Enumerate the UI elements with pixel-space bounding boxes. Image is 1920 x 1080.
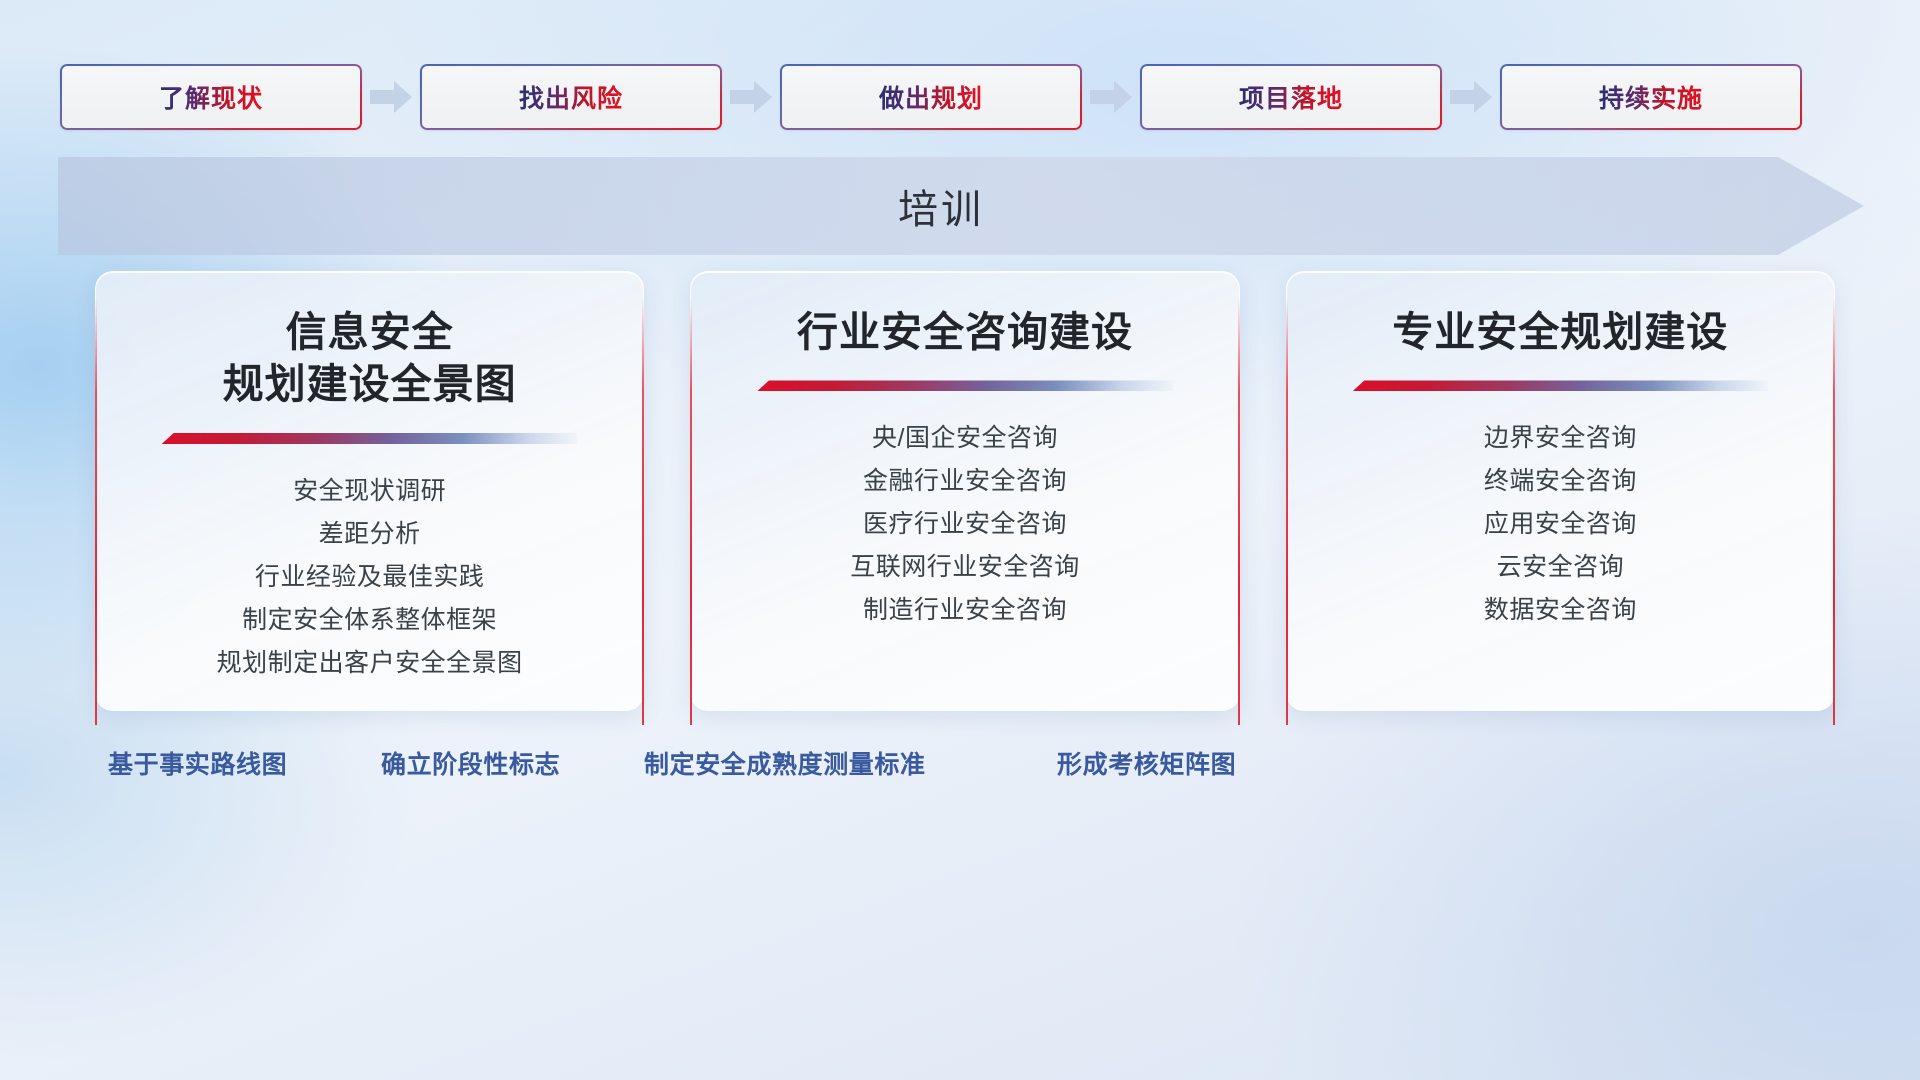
card-divider: [162, 433, 578, 444]
card-list: 央/国企安全咨询 金融行业安全咨询 医疗行业安全咨询 互联网行业安全咨询 制造行…: [717, 417, 1212, 632]
training-banner: 培训: [58, 157, 1864, 255]
step-box-5[interactable]: 持续实施: [1500, 64, 1802, 130]
step-label: 做出规划: [879, 79, 983, 115]
list-item: 金融行业安全咨询: [717, 460, 1212, 503]
card-title: 专业安全规划建设: [1392, 306, 1728, 358]
step-label: 了解现状: [159, 79, 263, 115]
step-label: 项目落地: [1239, 79, 1343, 115]
step-box-4[interactable]: 项目落地: [1140, 64, 1442, 130]
list-item: 央/国企安全咨询: [717, 417, 1212, 460]
list-item: 医疗行业安全咨询: [717, 503, 1212, 546]
card-information-security-panorama[interactable]: 信息安全 规划建设全景图 安全现状调研 差距分析 行业经验及最佳实践 制定安全体…: [95, 271, 644, 711]
caption-kpi-matrix: 形成考核矩阵图: [1057, 745, 1236, 781]
step-label: 持续实施: [1599, 79, 1703, 115]
card-divider: [1352, 380, 1768, 391]
card-industry-security-consulting[interactable]: 行业安全咨询建设 央/国企安全咨询 金融行业安全咨询 医疗行业安全咨询 互联网行…: [690, 271, 1239, 711]
card-rail-left: [1286, 298, 1288, 725]
list-item: 云安全咨询: [1313, 546, 1808, 589]
card-rail-right: [642, 298, 644, 725]
slide-canvas: 了解现状 找出风险 做出规划 项目落地: [0, 0, 1920, 1080]
step-box-1[interactable]: 了解现状: [60, 64, 362, 130]
list-item: 互联网行业安全咨询: [717, 546, 1212, 589]
list-item: 行业经验及最佳实践: [122, 556, 617, 599]
caption-row: 基于事实路线图 确立阶段性标志 制定安全成熟度测量标准 形成考核矩阵图: [0, 745, 1920, 789]
caption-milestones: 确立阶段性标志: [381, 745, 560, 781]
caption-maturity-scale: 制定安全成熟度测量标准: [644, 745, 926, 781]
list-item: 边界安全咨询: [1313, 417, 1808, 460]
arrow-right-icon: [362, 81, 420, 113]
card-title: 行业安全咨询建设: [797, 306, 1133, 358]
arrow-right-icon: [1442, 81, 1500, 113]
list-item: 差距分析: [122, 513, 617, 556]
arrow-right-icon: [1082, 81, 1140, 113]
card-list: 边界安全咨询 终端安全咨询 应用安全咨询 云安全咨询 数据安全咨询: [1313, 417, 1808, 632]
card-rail-left: [690, 298, 692, 725]
list-item: 制定安全体系整体框架: [122, 599, 617, 642]
step-label: 找出风险: [519, 79, 623, 115]
card-rail-left: [95, 298, 97, 725]
list-item: 终端安全咨询: [1313, 460, 1808, 503]
banner-title: 培训: [58, 157, 1864, 255]
step-box-2[interactable]: 找出风险: [420, 64, 722, 130]
caption-roadmap: 基于事实路线图: [108, 745, 287, 781]
card-list: 安全现状调研 差距分析 行业经验及最佳实践 制定安全体系整体框架 规划制定出客户…: [122, 470, 617, 685]
list-item: 数据安全咨询: [1313, 589, 1808, 632]
card-professional-security-planning[interactable]: 专业安全规划建设 边界安全咨询 终端安全咨询 应用安全咨询 云安全咨询 数据安全…: [1286, 271, 1835, 711]
process-step-row: 了解现状 找出风险 做出规划 项目落地: [60, 62, 1860, 132]
card-row: 信息安全 规划建设全景图 安全现状调研 差距分析 行业经验及最佳实践 制定安全体…: [95, 271, 1835, 711]
list-item: 制造行业安全咨询: [717, 589, 1212, 632]
card-divider: [757, 380, 1173, 391]
card-title: 信息安全 规划建设全景图: [223, 306, 517, 411]
card-rail-right: [1833, 298, 1835, 725]
list-item: 应用安全咨询: [1313, 503, 1808, 546]
list-item: 规划制定出客户安全全景图: [122, 642, 617, 685]
card-rail-right: [1238, 298, 1240, 725]
arrow-right-icon: [722, 81, 780, 113]
step-box-3[interactable]: 做出规划: [780, 64, 1082, 130]
list-item: 安全现状调研: [122, 470, 617, 513]
